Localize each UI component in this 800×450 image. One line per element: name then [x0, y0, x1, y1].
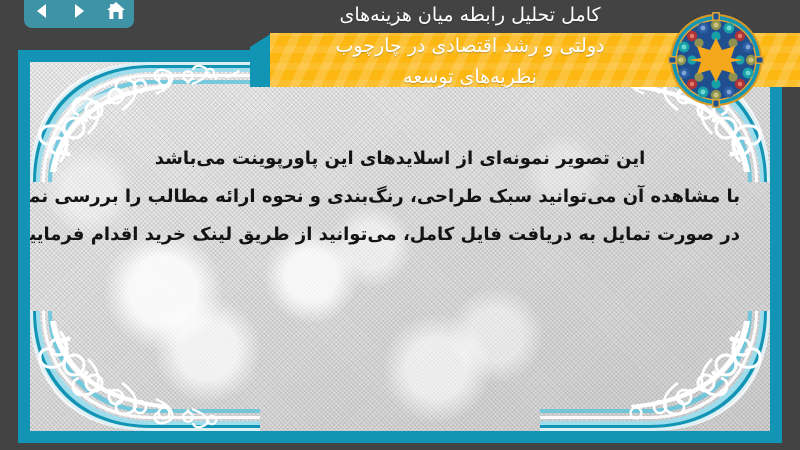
persian-medallion-icon	[668, 12, 764, 108]
body-line-2: با مشاهده آن می‌توانید سبک طراحی، رنگ‌بن…	[60, 178, 740, 216]
back-arrow-icon	[32, 1, 52, 21]
forward-arrow-icon	[69, 1, 89, 21]
home-button[interactable]	[103, 0, 129, 24]
forward-button[interactable]	[66, 0, 92, 24]
back-button[interactable]	[29, 0, 55, 24]
body-line-3: در صورت تمایل به دریافت فایل کامل، می‌تو…	[60, 216, 740, 254]
body-line-1: این تصویر نمونه‌ای از اسلایدهای این پاور…	[60, 140, 740, 178]
slide-content-area: این تصویر نمونه‌ای از اسلایدهای این پاور…	[30, 62, 770, 431]
navigation-toolbar	[24, 0, 134, 28]
arabesque-corner-ornament	[30, 311, 260, 431]
home-icon	[105, 0, 127, 22]
arabesque-corner-ornament	[540, 311, 770, 431]
slide-frame: این تصویر نمونه‌ای از اسلایدهای این پاور…	[18, 50, 782, 443]
slide-viewer: کامل تحلیل رابطه میان هزینه‌های دولتی و …	[0, 0, 800, 450]
slide-body-text: این تصویر نمونه‌ای از اسلایدهای این پاور…	[60, 140, 740, 254]
